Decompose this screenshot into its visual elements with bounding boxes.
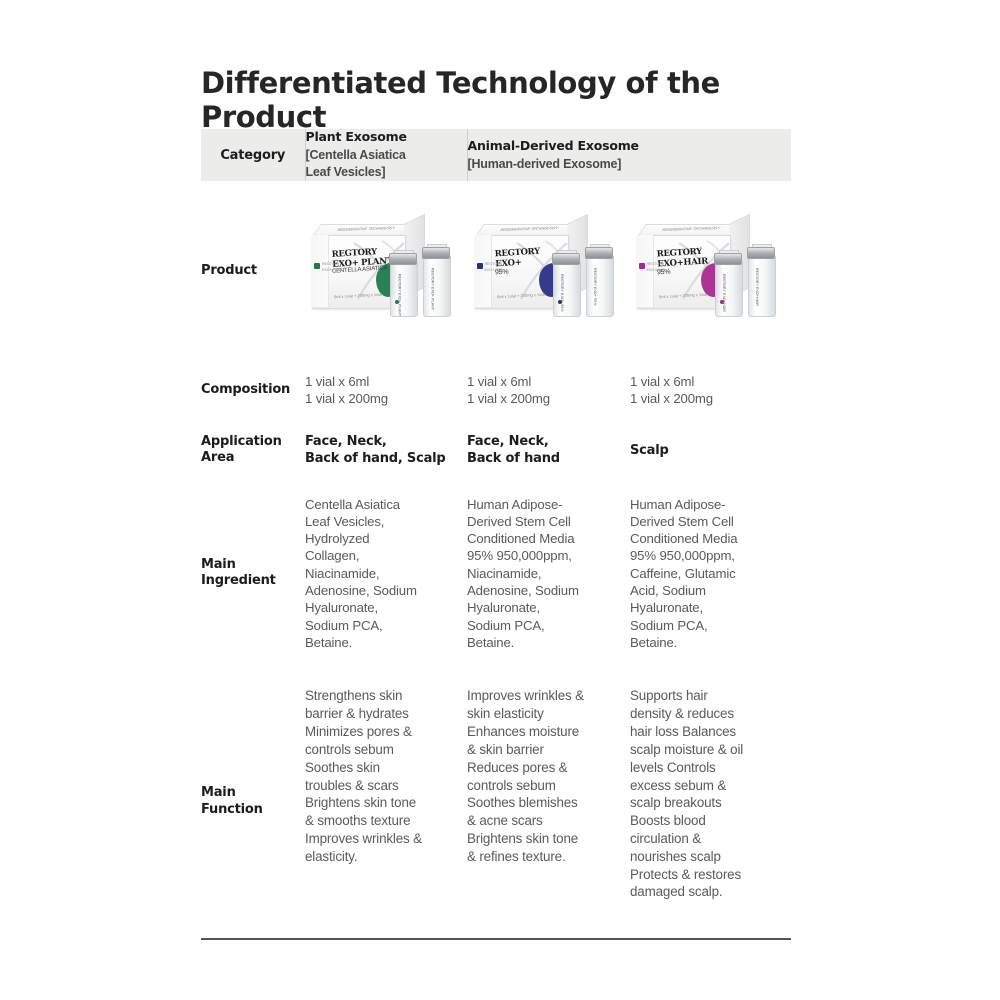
- specification-table: Category Plant Exosome [Centella Asiatic…: [201, 129, 791, 940]
- header-cell-plant-exosome: Plant Exosome [Centella Asiatica Leaf Ve…: [305, 129, 467, 181]
- side-brand-text: REGTORY EXO+HAIR: [647, 262, 665, 273]
- application-area-plant: Face, Neck, Back of hand, Scalp: [305, 419, 467, 481]
- row-label-main-ingredient: Main Ingredient: [201, 481, 305, 665]
- application-area-animal-skin: Face, Neck, Back of hand: [467, 419, 630, 481]
- application-area-animal-hair: Scalp: [630, 419, 791, 481]
- composition-animal-skin: 1 vial x 6ml 1 vial x 200mg: [467, 361, 630, 419]
- vial-cap: [552, 253, 580, 265]
- row-label-application-area: Application Area: [201, 419, 305, 481]
- main-ingredient-plant: Centella Asiatica Leaf Vesicles, Hydroly…: [305, 481, 467, 665]
- side-accent-chip: [639, 263, 645, 269]
- vial-back: REGTORY EXO+ 95%: [586, 255, 614, 317]
- side-brand-text: REGTORY EXO+ 95%: [485, 262, 503, 273]
- vial-front: REGTORY EXO+ PLANT: [390, 261, 418, 317]
- product-comparison-page: Differentiated Technology of the Product…: [0, 0, 1000, 1000]
- product-cell-animal-skin: REGENERATIVE TECHNOLOGY REGTORYEXO+ 95% …: [467, 181, 630, 361]
- side-accent-chip: [477, 263, 483, 269]
- table-row-main-function: Main Function Strengthens skin barrier &…: [201, 665, 791, 939]
- table-row-application-area: Application Area Face, Neck, Back of han…: [201, 419, 791, 481]
- vial-cap: [422, 247, 450, 259]
- main-ingredient-animal-hair: Human Adipose- Derived Stem Cell Conditi…: [630, 481, 791, 665]
- vial-label-text: REGTORY EXO+ PLANT: [397, 274, 401, 316]
- vial-cap: [714, 253, 742, 265]
- vial-back: REGTORY EXO+HAIR: [748, 255, 776, 317]
- main-function-animal-hair: Supports hair density & reduces hair los…: [630, 665, 791, 939]
- table-header: Category Plant Exosome [Centella Asiatic…: [201, 129, 791, 181]
- side-accent-chip: [314, 263, 320, 269]
- table-row-composition: Composition 1 vial x 6ml 1 vial x 200mg …: [201, 361, 791, 419]
- table-row-main-ingredient: Main Ingredient Centella Asiatica Leaf V…: [201, 481, 791, 665]
- product-cell-animal-hair: REGENERATIVE TECHNOLOGY REGTORYEXO+HAIR …: [630, 181, 791, 361]
- row-label-product: Product: [201, 181, 305, 361]
- side-brand-text: REGTORY EXO+ PLANT: [322, 262, 344, 273]
- product-image-plant: REGENERATIVE TECHNOLOGY REGTORYEXO+ PLAN…: [306, 211, 466, 331]
- product-image-animal-skin: REGENERATIVE TECHNOLOGY REGTORYEXO+ 95% …: [469, 211, 629, 331]
- vial-accent-dot: [720, 300, 724, 304]
- vial-back: REGTORY EXO+ PLANT: [423, 255, 451, 317]
- header-category-label: Category: [220, 148, 285, 163]
- composition-animal-hair: 1 vial x 6ml 1 vial x 200mg: [630, 361, 791, 419]
- product-cell-plant: REGENERATIVE TECHNOLOGY REGTORYEXO+ PLAN…: [305, 181, 467, 361]
- header-cell-animal-derived-exosome: Animal-Derived Exosome [Human-derived Ex…: [467, 129, 791, 181]
- vial-cap: [585, 247, 613, 259]
- main-function-animal-skin: Improves wrinkles & skin elasticity Enha…: [467, 665, 630, 939]
- table-row-product: Product REGENERATIVE TECHNOLOGY: [201, 181, 791, 361]
- vial-front: REGTORY EXO+HAIR: [715, 261, 743, 317]
- main-ingredient-animal-skin: Human Adipose- Derived Stem Cell Conditi…: [467, 481, 630, 665]
- vial-label-text: REGTORY EXO+ 95%: [593, 268, 597, 306]
- vial-label-text: REGTORY EXO+ PLANT: [430, 268, 434, 310]
- header-group-title-plant: Plant Exosome: [306, 129, 467, 146]
- header-group-subtitle-animal: [Human-derived Exosome]: [468, 156, 792, 173]
- header-row: Category Plant Exosome [Centella Asiatic…: [201, 129, 791, 181]
- vial-label-text: REGTORY EXO+HAIR: [722, 274, 726, 312]
- composition-plant: 1 vial x 6ml 1 vial x 200mg: [305, 361, 467, 419]
- row-label-main-function: Main Function: [201, 665, 305, 939]
- vial-cap: [747, 247, 775, 259]
- vial-front: REGTORY EXO+ 95%: [553, 261, 581, 317]
- header-cell-category: Category: [201, 129, 305, 181]
- row-label-composition: Composition: [201, 361, 305, 419]
- vial-accent-dot: [558, 300, 562, 304]
- product-image-animal-hair: REGENERATIVE TECHNOLOGY REGTORYEXO+HAIR …: [631, 211, 791, 331]
- table-body: Product REGENERATIVE TECHNOLOGY: [201, 181, 791, 939]
- header-group-title-animal: Animal-Derived Exosome: [468, 138, 792, 155]
- page-title: Differentiated Technology of the Product: [201, 66, 801, 134]
- vial-cap: [389, 253, 417, 265]
- main-function-plant: Strengthens skin barrier & hydrates Mini…: [305, 665, 467, 939]
- vial-label-text: REGTORY EXO+ 95%: [560, 274, 564, 312]
- vial-label-text: REGTORY EXO+HAIR: [755, 268, 759, 306]
- header-group-subtitle-plant: [Centella Asiatica Leaf Vesicles]: [306, 147, 467, 182]
